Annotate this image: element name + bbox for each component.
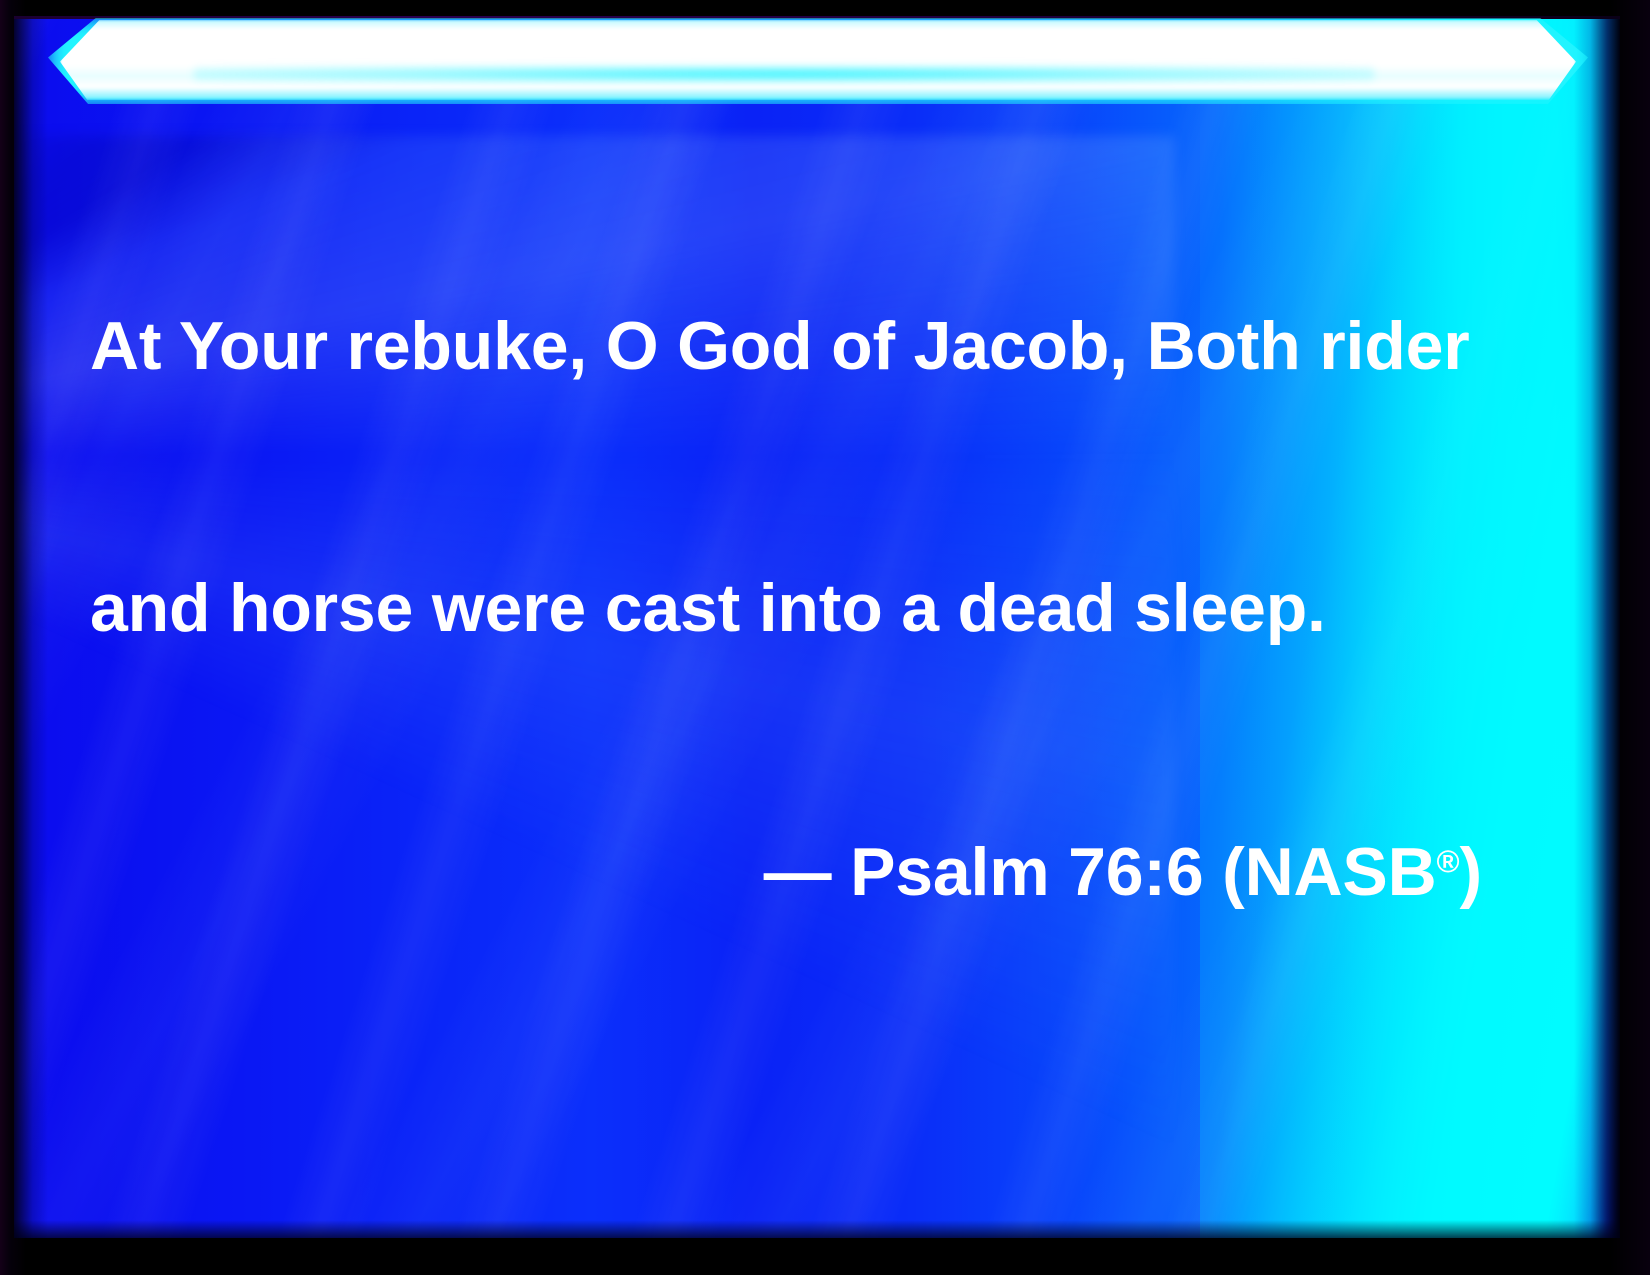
background-left-edge-fade bbox=[14, 16, 48, 1238]
verse-citation-suffix: ) bbox=[1460, 834, 1482, 910]
header-glow-bar bbox=[14, 16, 1620, 131]
header-glow-body bbox=[60, 20, 1576, 100]
verse-citation-prefix: — Psalm 76:6 (NASB bbox=[764, 834, 1437, 910]
background-artwork: At Your rebuke, O God of Jacob, Both rid… bbox=[14, 16, 1620, 1238]
verse-line-2: and horse were cast into a dead sleep. bbox=[90, 565, 1490, 652]
registered-trademark-icon: ® bbox=[1437, 844, 1460, 879]
verse-line-1: At Your rebuke, O God of Jacob, Both rid… bbox=[90, 303, 1490, 390]
background-bottom-edge-fade bbox=[14, 1220, 1620, 1238]
verse-citation: — Psalm 76:6 (NASB®) bbox=[90, 829, 1490, 916]
verse-slide: At Your rebuke, O God of Jacob, Both rid… bbox=[0, 0, 1650, 1275]
verse-text-block: At Your rebuke, O God of Jacob, Both rid… bbox=[90, 128, 1490, 1091]
header-glow-streak bbox=[194, 66, 1374, 82]
background-right-edge-fade bbox=[1574, 16, 1620, 1238]
